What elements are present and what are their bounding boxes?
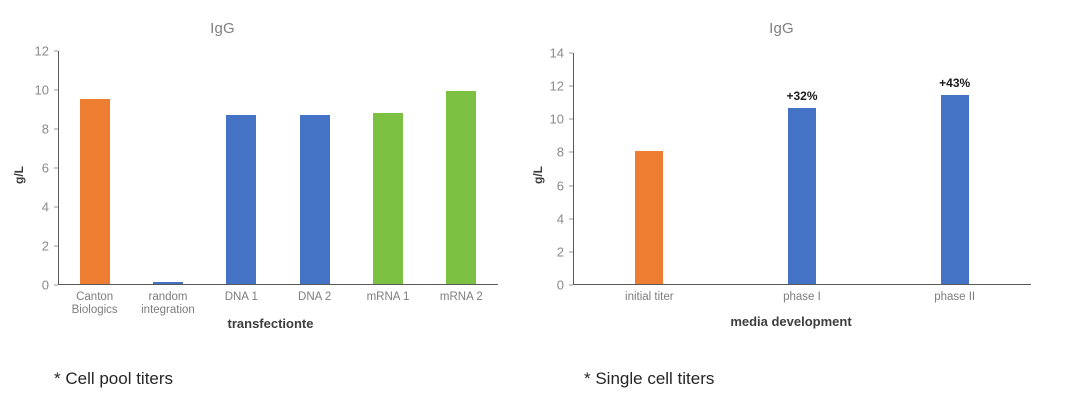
x-axis-category-label: Canton Biologics	[58, 291, 131, 317]
bar[interactable]	[153, 282, 183, 284]
bar[interactable]	[635, 151, 663, 284]
y-axis-tick-label: 2	[42, 239, 49, 254]
y-axis-tick-mark	[569, 185, 573, 186]
x-axis-line-left	[58, 284, 498, 285]
y-axis-tick-mark	[54, 246, 58, 247]
y-axis-tick-mark	[569, 86, 573, 87]
y-axis-tick-label: 4	[557, 211, 564, 226]
y-axis-tick-mark	[569, 53, 573, 54]
x-axis-category-label: random integration	[131, 291, 204, 317]
y-axis-tick-mark	[569, 218, 573, 219]
bar[interactable]	[373, 113, 403, 284]
y-axis-tick-label: 0	[557, 278, 564, 293]
bar[interactable]	[226, 115, 256, 284]
y-axis-tick-label: 10	[550, 112, 564, 127]
y-axis-tick-mark	[569, 152, 573, 153]
x-axis-category-label: mRNA 2	[425, 291, 498, 304]
bar[interactable]	[80, 99, 110, 284]
x-axis-category-label: phase II	[878, 291, 1031, 304]
y-axis-tick-mark	[54, 51, 58, 52]
bar[interactable]	[446, 91, 476, 284]
y-axis-tick-mark	[569, 285, 573, 286]
caption-left: * Cell pool titers	[54, 369, 173, 389]
x-axis-label-left: transfectionte	[0, 316, 541, 331]
bar-annotation-label: +32%	[786, 89, 817, 103]
y-axis-tick-label: 2	[557, 244, 564, 259]
y-axis-tick-mark	[54, 129, 58, 130]
figure-root: IgG 024681012Canton Biologicsrandom inte…	[0, 0, 1082, 415]
y-axis-tick-mark	[54, 90, 58, 91]
y-axis-tick-label: 4	[42, 200, 49, 215]
bar-annotation-label: +43%	[939, 76, 970, 90]
plot-area-right: 02468101214initial titer+32%phase I+43%p…	[573, 53, 1031, 285]
y-axis-tick-label: 0	[42, 278, 49, 293]
y-axis-tick-label: 8	[557, 145, 564, 160]
x-axis-category-label: DNA 1	[205, 291, 278, 304]
chart-title-right: IgG	[511, 20, 1052, 37]
x-axis-category-label: initial titer	[573, 291, 726, 304]
y-axis-tick-mark	[569, 119, 573, 120]
y-axis-label-left: g/L	[12, 166, 26, 184]
y-axis-tick-label: 10	[35, 83, 49, 98]
y-axis-line-left	[58, 51, 59, 285]
plot-area-left: 024681012Canton Biologicsrandom integrat…	[58, 51, 498, 285]
y-axis-tick-label: 14	[550, 46, 564, 61]
x-axis-label-right: media development	[541, 314, 1041, 329]
y-axis-tick-label: 12	[550, 79, 564, 94]
y-axis-tick-label: 6	[557, 178, 564, 193]
bar[interactable]	[300, 115, 330, 284]
x-axis-category-label: phase I	[726, 291, 879, 304]
x-axis-category-label: DNA 2	[278, 291, 351, 304]
x-axis-category-label: mRNA 1	[351, 291, 424, 304]
y-axis-line-right	[573, 53, 574, 285]
bar[interactable]	[788, 108, 816, 284]
y-axis-tick-mark	[54, 285, 58, 286]
y-axis-tick-mark	[569, 251, 573, 252]
y-axis-tick-label: 8	[42, 122, 49, 137]
y-axis-tick-label: 12	[35, 44, 49, 59]
y-axis-tick-mark	[54, 207, 58, 208]
bar[interactable]	[941, 95, 969, 284]
y-axis-label-right: g/L	[531, 166, 545, 184]
chart-title-left: IgG	[0, 20, 493, 37]
y-axis-tick-label: 6	[42, 161, 49, 176]
caption-right: * Single cell titers	[584, 369, 714, 389]
x-axis-line-right	[573, 284, 1031, 285]
y-axis-tick-mark	[54, 168, 58, 169]
chart-panel-single-cell-titers: IgG 02468101214initial titer+32%phase I+…	[541, 0, 1082, 415]
chart-panel-cell-pool-titers: IgG 024681012Canton Biologicsrandom inte…	[0, 0, 541, 415]
